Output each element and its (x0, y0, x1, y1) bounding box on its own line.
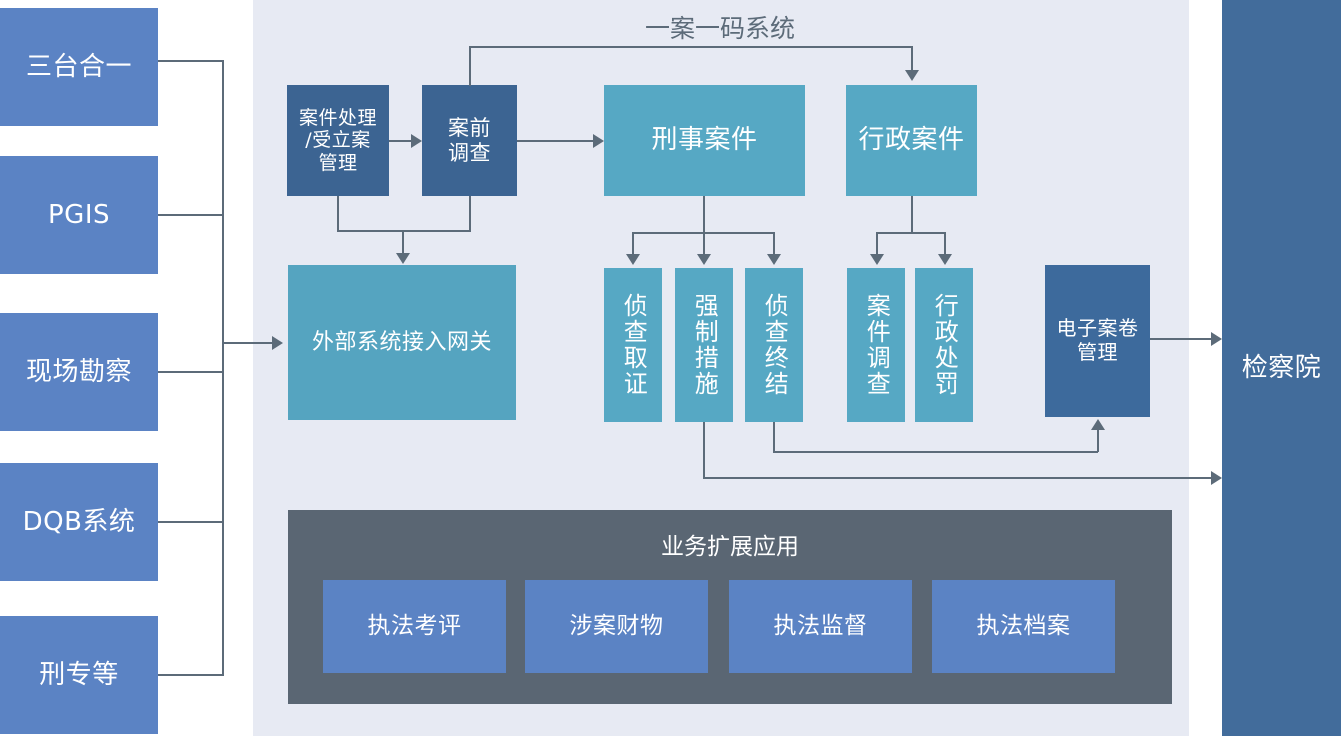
extension-panel-title: 业务扩展应用 (288, 527, 1172, 561)
node-case-processing-line-2: 管理 (318, 152, 357, 174)
connector-gateway-drop (402, 230, 404, 254)
connector-pre-to-criminal (517, 140, 593, 142)
arrow-to-admin-penalty (938, 254, 952, 265)
node-electronic-archive-line-0: 电子案卷 (1057, 317, 1139, 341)
connector-pre-up (469, 46, 471, 86)
arrow-to-step-conclusion (767, 254, 781, 265)
connector-conclusion-to-archive (773, 451, 1098, 453)
connector-down-to-admin (911, 46, 913, 71)
node-procuratorate[interactable]: 检察院 (1222, 0, 1341, 736)
connector-ext4-stub (158, 674, 224, 676)
node-pre-investigation[interactable]: 案前 调查 (422, 85, 517, 196)
node-case-processing-line-0: 案件处理 (299, 107, 377, 129)
connector-admin-branch-bus (876, 232, 946, 234)
node-criminal-step-1-label: 强制措施 (691, 293, 717, 397)
external-system-box-4[interactable]: 刑专等 (0, 616, 158, 734)
arrow-to-admin-investigation (870, 254, 884, 265)
connector-criminal-branch-mid (703, 232, 705, 255)
node-pre-investigation-line-0: 案前 (448, 116, 491, 141)
connector-caseproc-down (337, 196, 339, 231)
connector-admin-down (911, 196, 913, 232)
connector-archive-to-procuratorate (1150, 338, 1211, 340)
connector-criminal-down (703, 196, 705, 232)
extension-app-2[interactable]: 执法监督 (729, 580, 912, 673)
arrow-top-bus-to-admin (905, 70, 919, 81)
connector-coercive-down (703, 422, 705, 478)
external-system-box-1[interactable]: PGIS (0, 156, 158, 274)
external-system-box-0[interactable]: 三台合一 (0, 8, 158, 126)
connector-admin-branch-left (876, 232, 878, 255)
arrow-pre-to-criminal (593, 134, 604, 148)
node-electronic-archive[interactable]: 电子案卷 管理 (1045, 265, 1150, 417)
connector-archive-up (1097, 430, 1099, 452)
connector-caseproc-to-pre (389, 140, 411, 142)
architecture-diagram: 一案一码系统 三台合一 PGIS 现场勘察 DQB系统 刑专等 案件处理 /受立… (0, 0, 1341, 737)
connector-pre-down (469, 196, 471, 231)
external-system-box-2[interactable]: 现场勘察 (0, 313, 158, 431)
node-criminal-step-2-label: 侦查终结 (761, 293, 787, 397)
connector-conclusion-down (773, 422, 775, 452)
arrow-into-gateway (396, 253, 410, 264)
node-criminal-step-1[interactable]: 强制措施 (675, 268, 733, 422)
connector-top-bus (469, 46, 913, 48)
arrow-archive-to-procuratorate (1211, 332, 1222, 346)
node-criminal-step-0-label: 侦查取证 (620, 293, 646, 397)
connector-external-bus (222, 60, 224, 676)
node-admin-step-1-label: 行政处罚 (931, 293, 957, 397)
node-case-processing[interactable]: 案件处理 /受立案 管理 (287, 85, 389, 196)
connector-merge-to-gateway (337, 230, 471, 232)
arrow-into-archive (1091, 419, 1105, 430)
arrow-to-step-coercive (697, 254, 711, 265)
extension-app-0[interactable]: 执法考评 (323, 580, 506, 673)
node-criminal-case[interactable]: 刑事案件 (604, 85, 805, 196)
node-criminal-step-0[interactable]: 侦查取证 (604, 268, 662, 422)
connector-ext0-stub (158, 60, 224, 62)
connector-coercive-to-procuratorate (703, 477, 1211, 479)
connector-bus-to-gateway (222, 342, 272, 344)
node-admin-step-0-label: 案件调查 (863, 293, 889, 397)
arrow-caseproc-to-pre (411, 134, 422, 148)
connector-ext2-stub (158, 371, 224, 373)
arrow-to-procuratorate-bottom (1211, 471, 1222, 485)
external-system-box-3[interactable]: DQB系统 (0, 463, 158, 581)
connector-criminal-branch-left (632, 232, 634, 255)
node-administrative-case[interactable]: 行政案件 (846, 85, 977, 196)
connector-admin-branch-right (944, 232, 946, 255)
connector-ext1-stub (158, 214, 224, 216)
node-electronic-archive-line-1: 管理 (1077, 341, 1118, 365)
arrow-to-step-evidence (626, 254, 640, 265)
node-admin-step-1[interactable]: 行政处罚 (915, 268, 973, 422)
node-case-processing-line-1: /受立案 (305, 129, 370, 151)
node-pre-investigation-line-1: 调查 (448, 141, 491, 166)
connector-criminal-branch-right (773, 232, 775, 255)
connector-ext3-stub (158, 521, 224, 523)
system-title: 一案一码系统 (645, 9, 795, 45)
node-admin-step-0[interactable]: 案件调查 (847, 268, 905, 422)
node-criminal-step-2[interactable]: 侦查终结 (745, 268, 803, 422)
arrow-bus-to-gateway (272, 336, 283, 350)
extension-app-1[interactable]: 涉案财物 (525, 580, 708, 673)
extension-app-3[interactable]: 执法档案 (932, 580, 1115, 673)
node-external-gateway[interactable]: 外部系统接入网关 (288, 265, 516, 420)
